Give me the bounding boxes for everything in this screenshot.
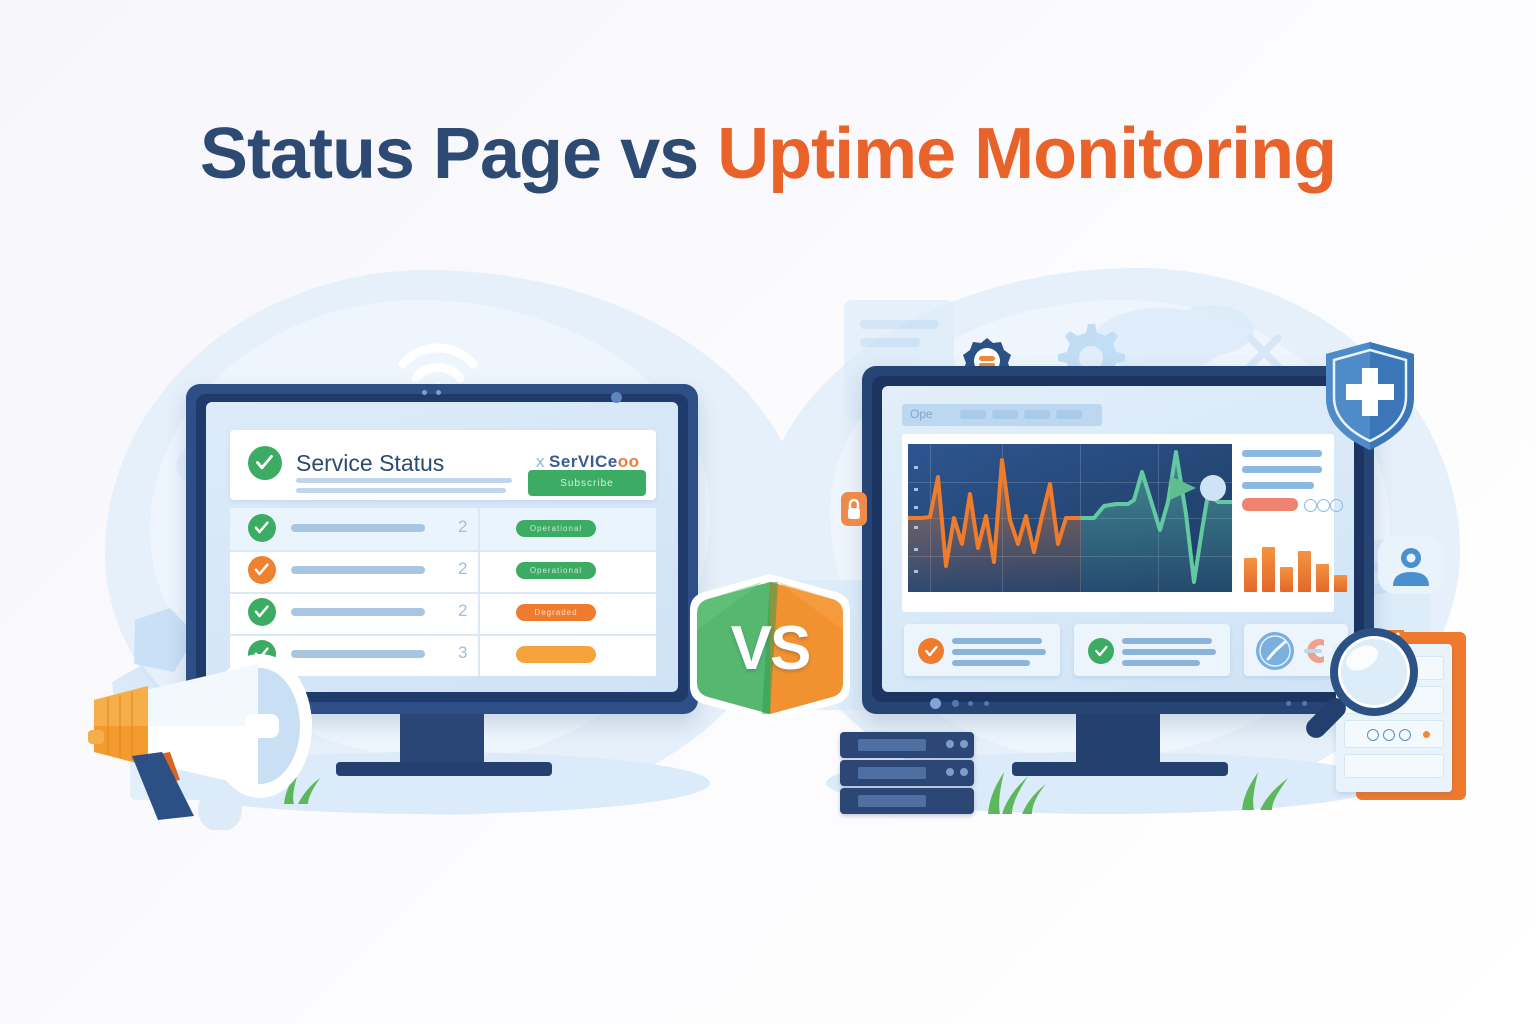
server-slot	[858, 795, 926, 807]
response-time-chart	[908, 444, 1232, 592]
header-line-2	[296, 488, 506, 493]
page-title-left: Status Page vs	[200, 114, 717, 194]
card-line	[1122, 638, 1212, 644]
logo-text: SerVICe	[549, 452, 618, 471]
card-line	[952, 660, 1030, 666]
row-status-pill: Degraded	[516, 604, 596, 621]
logo-x-mark: x	[536, 452, 545, 471]
clipboard-row	[1344, 754, 1444, 778]
chart-marker-dot	[1200, 475, 1226, 501]
row-divider	[230, 550, 656, 552]
server-slot	[858, 767, 926, 779]
side-panel-ring	[1330, 499, 1343, 512]
left-monitor-led	[422, 390, 427, 395]
right-monitor-led	[952, 700, 959, 707]
page-title: Status Page vs Uptime Monitoring	[0, 118, 1536, 190]
check-circle-icon	[918, 638, 944, 664]
page-title-right: Uptime Monitoring	[717, 114, 1336, 194]
side-panel-ring	[1304, 499, 1317, 512]
check-circle-icon	[1088, 638, 1114, 664]
right-monitor-neck	[1076, 714, 1160, 766]
right-monitor-led	[968, 701, 973, 706]
right-monitor-led	[1286, 701, 1291, 706]
row-status-check-icon	[248, 598, 276, 626]
row-status-check-icon	[248, 514, 276, 542]
card-line	[1122, 660, 1200, 666]
bar-chart-bar	[1298, 551, 1311, 592]
column-divider	[478, 508, 480, 676]
row-status-pill	[516, 646, 596, 663]
toolbar-chip	[1024, 410, 1050, 419]
bar-chart-bar	[1262, 547, 1275, 592]
card-line	[952, 638, 1042, 644]
server-led	[960, 740, 968, 748]
bar-chart-bar	[1244, 558, 1257, 592]
header-check-icon	[248, 446, 282, 480]
left-monitor-power-led	[611, 392, 622, 403]
left-monitor-led	[436, 390, 441, 395]
user-settings-icon	[1378, 536, 1444, 594]
service-status-logo: xSerVICeoo	[536, 452, 639, 472]
toolbar-chip	[960, 410, 986, 419]
row-label-bar	[291, 608, 425, 616]
shield-cross-icon	[1322, 340, 1418, 452]
lock-chip-icon	[841, 492, 867, 526]
dashboard-tab-label: Ope	[910, 407, 933, 421]
bar-chart-bar	[1280, 567, 1293, 592]
toolbar-chip	[1056, 410, 1082, 419]
side-panel-ring	[1317, 499, 1330, 512]
row-status-check-icon	[248, 556, 276, 584]
server-slot	[858, 739, 926, 751]
right-monitor-power-led	[930, 698, 941, 709]
side-panel-line	[1242, 482, 1314, 489]
toolbar-chip	[992, 410, 1018, 419]
service-status-title: Service Status	[296, 450, 444, 477]
illustration-canvas: Status Page vs Uptime Monitoring	[0, 0, 1536, 1024]
logo-suffix: oo	[618, 452, 640, 471]
row-label-bar	[291, 524, 425, 532]
row-count: 2	[458, 601, 467, 621]
grass-decor	[978, 762, 1058, 814]
card-line	[952, 649, 1046, 655]
server-led	[946, 740, 954, 748]
bar-chart-bar	[1334, 575, 1347, 592]
server-led	[960, 768, 968, 776]
header-line-1	[296, 478, 512, 483]
row-count: 2	[458, 559, 467, 579]
magnifying-glass-icon	[1296, 616, 1432, 752]
bar-chart-bar	[1316, 564, 1329, 592]
chart-series-svg	[908, 444, 1232, 592]
row-divider	[230, 592, 656, 594]
row-label-bar	[291, 566, 425, 574]
left-monitor-neck	[400, 714, 484, 766]
row-count: 2	[458, 517, 467, 537]
vs-badge: VS	[686, 570, 854, 726]
row-status-pill: Operational	[516, 520, 596, 537]
vs-badge-label: VS	[686, 570, 854, 726]
server-led	[946, 768, 954, 776]
right-monitor-led	[984, 701, 989, 706]
right-monitor-screen: Ope	[882, 386, 1354, 692]
gauge-icon	[1254, 630, 1296, 672]
card-line	[1122, 649, 1216, 655]
side-panel-line	[1242, 466, 1322, 473]
subscribe-button[interactable]: Subscribe	[528, 470, 646, 496]
side-panel-chip	[1242, 498, 1298, 511]
left-monitor-base	[336, 762, 552, 776]
megaphone-icon	[62, 630, 332, 820]
row-status-pill: Operational	[516, 562, 596, 579]
side-panel-line	[1242, 450, 1322, 457]
grass-decor	[1234, 764, 1304, 810]
row-count: 3	[458, 643, 467, 663]
